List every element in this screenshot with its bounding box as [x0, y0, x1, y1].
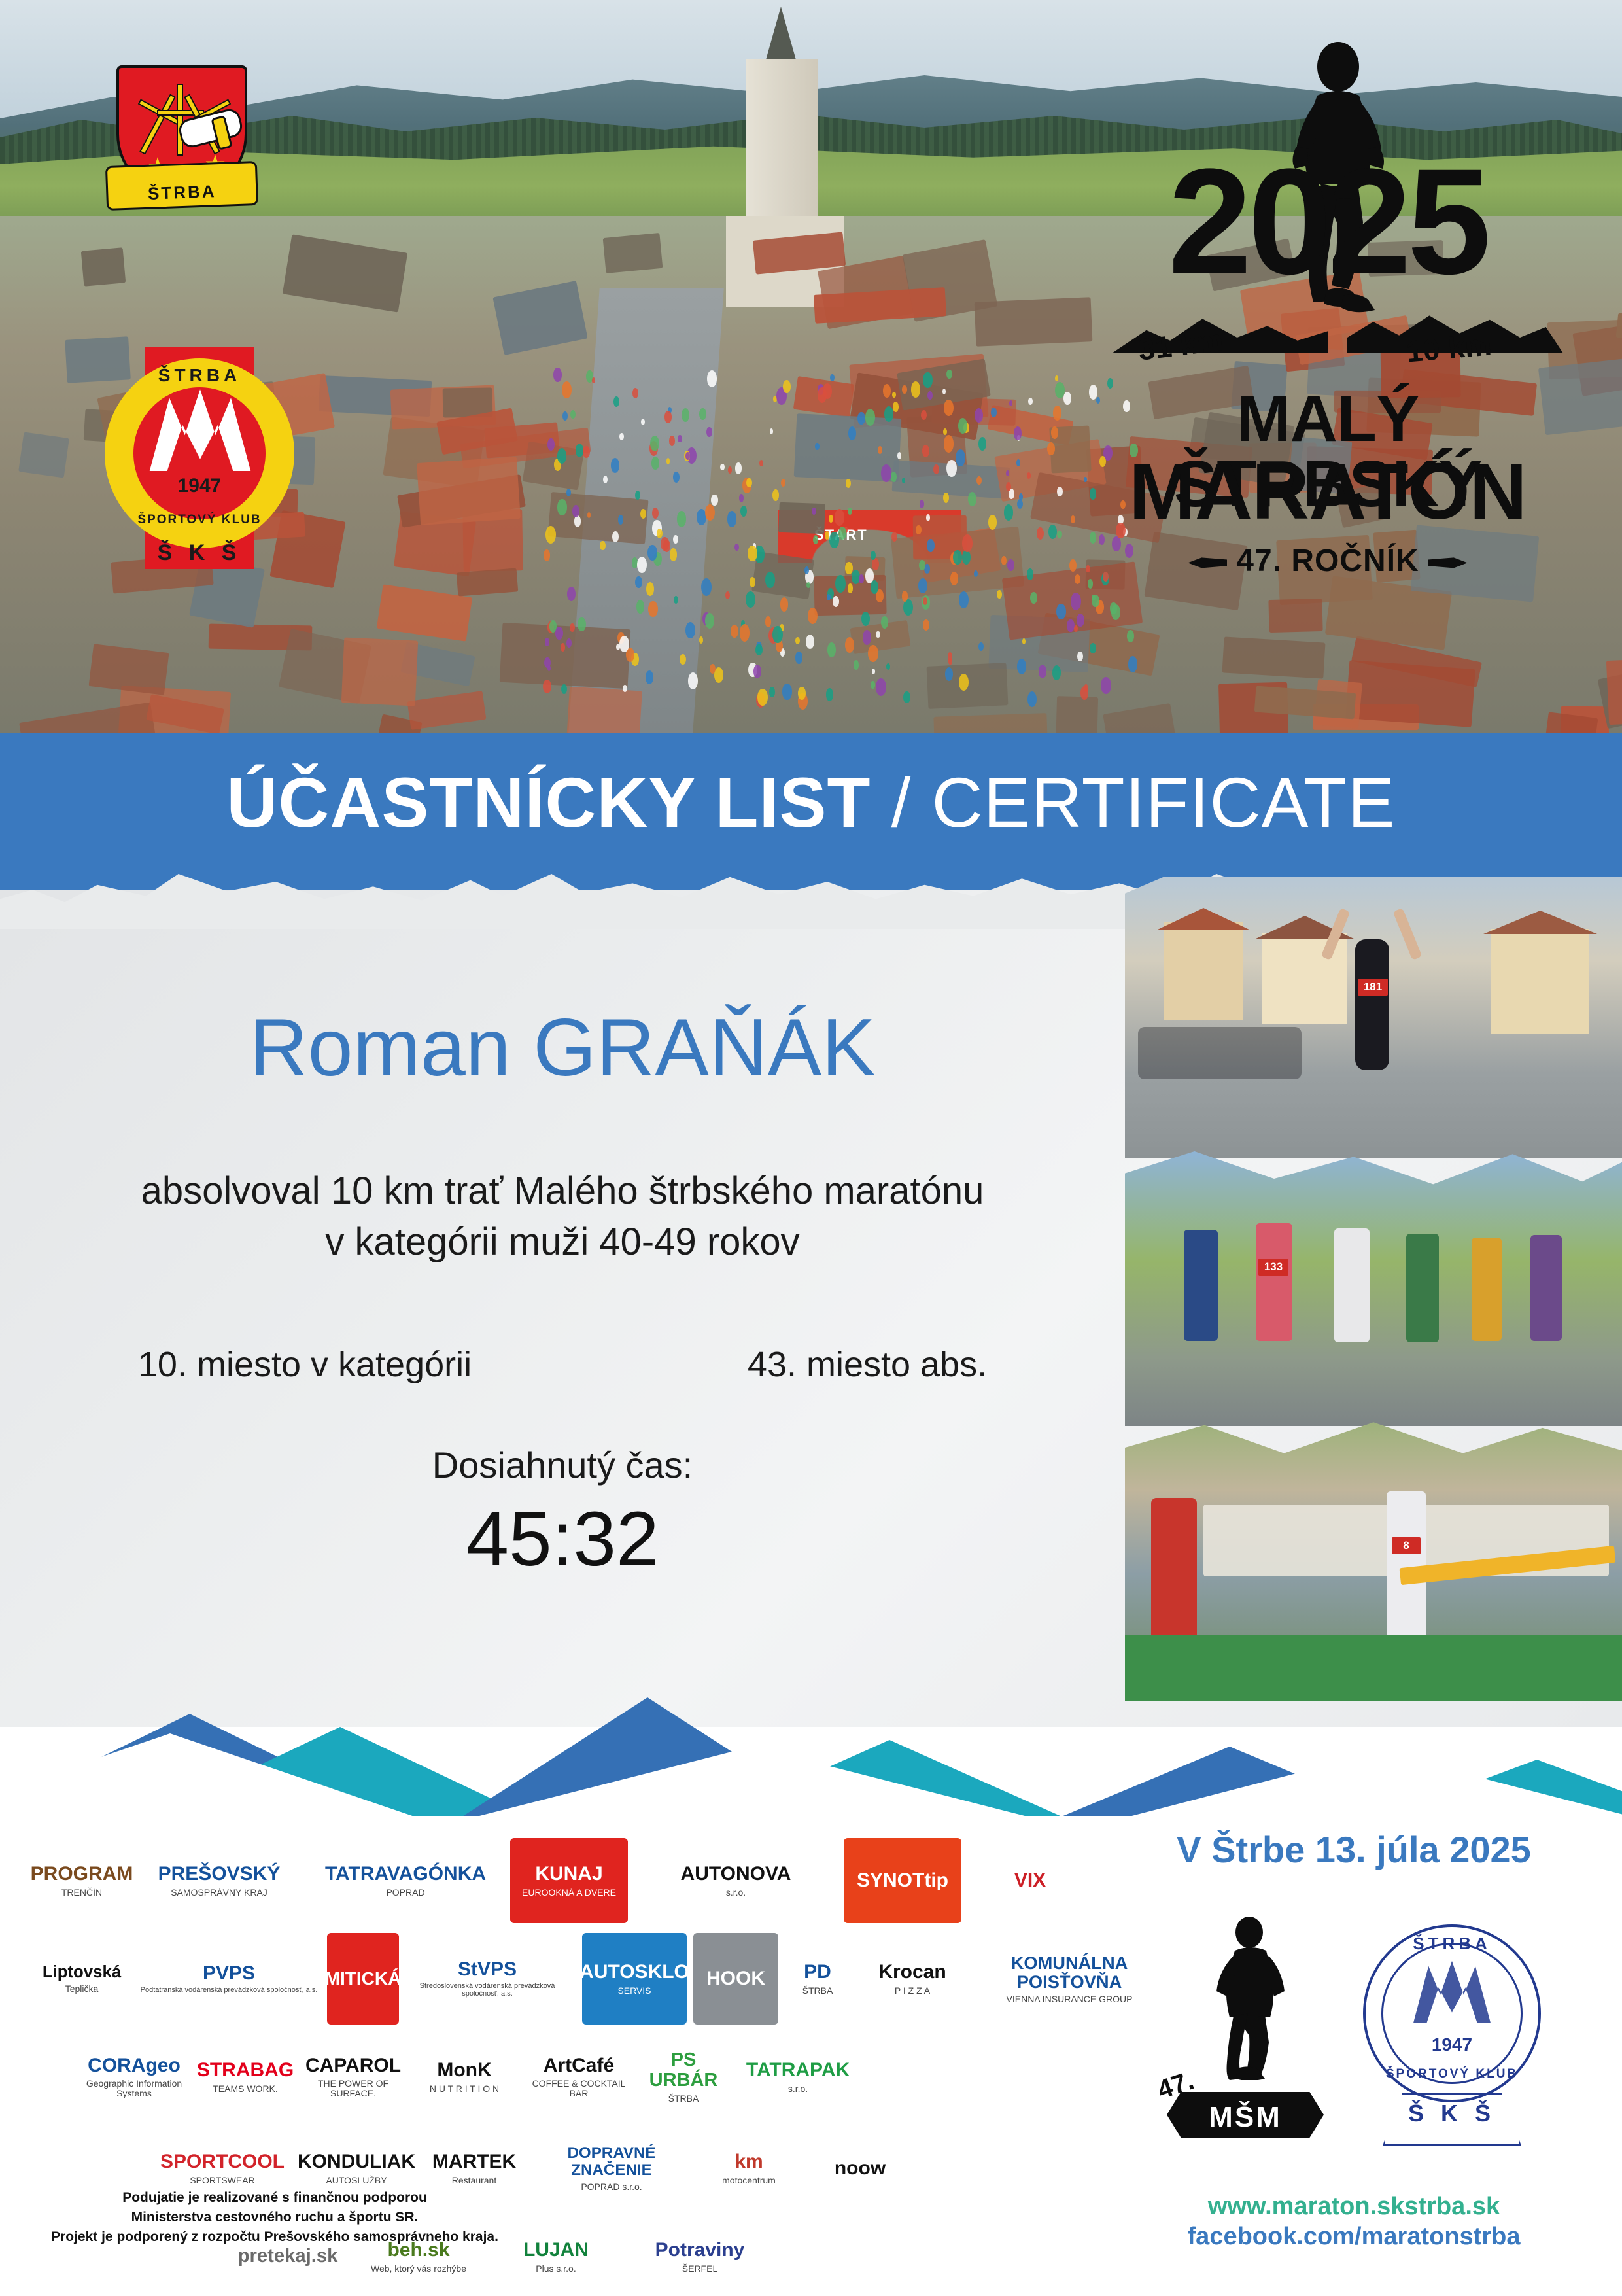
- spectator: [835, 575, 846, 593]
- spectator: [1006, 482, 1011, 491]
- spectator: [944, 435, 954, 453]
- distance-31km: 31 km: [1136, 322, 1225, 367]
- rooftop: [1222, 636, 1326, 678]
- sponsor-tagline: COFFEE & COCKTAIL BAR: [523, 2079, 634, 2098]
- spectator: [1028, 398, 1033, 406]
- sponsor-tagline: P I Z Z A: [895, 1986, 930, 1996]
- spectator: [1030, 592, 1037, 604]
- race-bib: 8: [1392, 1537, 1421, 1554]
- sponsor-name: TATRAPAK: [746, 2060, 850, 2081]
- spectator: [948, 659, 952, 665]
- sponsor-tagline: s.r.o.: [788, 2084, 808, 2094]
- coat-ribbon-label: ŠTRBA: [108, 180, 256, 205]
- sponsor-name: SPORTCOOL: [160, 2151, 285, 2172]
- sponsor-tagline: VIENNA INSURANCE GROUP: [1007, 1994, 1133, 2004]
- sks-stamp: ŠTRBA 1947 ŠPORTOVÝ KLUB Š K Š: [1347, 1904, 1557, 2146]
- spectator: [946, 460, 956, 477]
- arrow-right-icon: [1428, 557, 1468, 568]
- sponsor-tagline: ŠERFEL: [682, 2264, 717, 2274]
- msm-abbr-box: MŠM: [1167, 2092, 1324, 2138]
- website-link[interactable]: www.maraton.skstrba.sk: [1138, 2191, 1570, 2221]
- sponsor-logo: PS URBÁRŠTRBA: [641, 2034, 726, 2119]
- spectator: [592, 377, 595, 383]
- fine-print-line-2: Ministerstva cestovného ruchu a športu S…: [46, 2208, 504, 2227]
- spectator: [795, 652, 802, 663]
- spectator: [561, 684, 567, 694]
- spectator: [632, 388, 638, 398]
- spectator: [918, 578, 927, 594]
- sponsor-name: Potraviny: [655, 2240, 745, 2261]
- spectator: [1017, 659, 1026, 674]
- spectator: [570, 623, 575, 632]
- spectator: [808, 608, 818, 624]
- spectator: [618, 515, 624, 525]
- spectator: [706, 427, 712, 437]
- sks-middle-label: ŠPORTOVÝ KLUB: [105, 513, 294, 527]
- sponsor-name: CAPAROL: [305, 2055, 401, 2076]
- spectator: [920, 500, 925, 508]
- spectator: [922, 445, 929, 457]
- stamp-middle-label: ŠPORTOVÝ KLUB: [1347, 2067, 1557, 2081]
- spectator: [1056, 604, 1066, 620]
- spectator: [838, 527, 846, 540]
- runner: [1256, 1223, 1292, 1341]
- sponsor-tagline: SERVIS: [617, 1986, 651, 1996]
- sponsor-logo: KrocanP I Z Z A: [857, 1933, 968, 2025]
- finish-time-label: Dosiahnutý čas:: [0, 1444, 1125, 1486]
- spectator: [725, 591, 730, 599]
- house: [1164, 922, 1243, 1020]
- spectator: [677, 511, 686, 527]
- sponsor-name: CORAgeo: [88, 2055, 181, 2076]
- cross-icon: [177, 84, 183, 156]
- spectator: [921, 410, 927, 421]
- photo-finisher: 181: [1125, 877, 1622, 1158]
- finisher-runner: [1355, 939, 1389, 1070]
- spectator: [845, 637, 854, 653]
- spectator: [916, 525, 921, 534]
- spectator: [795, 637, 800, 644]
- spectator: [1092, 595, 1099, 607]
- spectator: [868, 645, 878, 662]
- sponsor-logo: TATRAPAKs.r.o.: [733, 2034, 863, 2119]
- spectator: [886, 663, 890, 670]
- title-english: CERTIFICATE: [932, 763, 1396, 842]
- spectator: [848, 508, 852, 515]
- distance-10km: 10 km: [1404, 326, 1493, 369]
- spectator: [804, 566, 809, 574]
- spectator: [637, 557, 647, 573]
- sponsor-logo: ArtCaféCOFFEE & COCKTAIL BAR: [523, 2034, 634, 2119]
- spectator: [1004, 504, 1013, 521]
- spectator: [650, 436, 659, 451]
- runner-silhouette-icon: [1203, 1917, 1288, 2080]
- sponsor-name: PD: [804, 1962, 831, 1983]
- sponsor-name: SYNOTtip: [857, 1870, 948, 1891]
- sponsor-name: StVPS: [458, 1959, 517, 1980]
- spectator: [806, 635, 814, 649]
- spectator: [600, 541, 605, 550]
- spectator: [759, 460, 763, 466]
- sponsor-tagline: TRENČÍN: [61, 1888, 102, 1898]
- placement-row: 10. miesto v kategórii 43. miesto abs.: [0, 1344, 1125, 1385]
- sponsor-name: VIX: [1014, 1870, 1046, 1891]
- sponsor-name: KONDULIAK: [298, 2151, 415, 2172]
- spectator: [782, 684, 791, 699]
- spectator: [943, 493, 950, 503]
- spectator: [557, 499, 566, 515]
- spectator: [652, 508, 659, 519]
- spectator: [1019, 493, 1023, 500]
- spectator: [562, 381, 572, 398]
- spectator: [958, 418, 967, 434]
- page-title: ÚČASTNÍCKY LIST / CERTIFICATE: [0, 761, 1622, 843]
- spectator: [613, 396, 619, 407]
- spectator: [978, 437, 986, 450]
- sponsor-tagline: s.r.o.: [726, 1888, 746, 1898]
- spectator: [547, 665, 551, 671]
- sponsor-logo: PVPSPodtatranská vodárenská prevádzková …: [137, 1933, 320, 2025]
- spectator: [902, 591, 908, 602]
- sponsor-tagline: EUROOKNÁ A DVERE: [522, 1888, 616, 1898]
- spectator: [612, 531, 619, 542]
- sponsor-name: KUNAJ: [535, 1864, 602, 1885]
- achievement-text: absolvoval 10 km trať Malého štrbského m…: [0, 1166, 1125, 1267]
- rooftop: [456, 568, 517, 596]
- rooftop: [602, 233, 662, 273]
- spectator: [669, 436, 675, 446]
- sponsor-logo: LUJANPlus s.r.o.: [497, 2218, 615, 2296]
- spectator: [1051, 426, 1058, 439]
- sponsor-tagline: N U T R I T I O N: [430, 2084, 499, 2094]
- spectator: [635, 576, 642, 588]
- sponsor-logo: LiptovskáTeplička: [39, 1933, 124, 2025]
- sponsor-logo: kmmotocentrum: [693, 2126, 804, 2211]
- spectator: [636, 600, 644, 614]
- spectator: [933, 464, 939, 474]
- spectator: [739, 494, 744, 502]
- spectator: [682, 408, 689, 422]
- photo-finish-line: 8: [1125, 1419, 1622, 1701]
- sponsor-logo: AUTOSKLOSERVIS: [582, 1933, 687, 2025]
- participant-name: Roman GRAŇÁK: [0, 1007, 1125, 1088]
- sponsor-tagline: THE POWER OF SURFACE.: [301, 2079, 405, 2098]
- spectator: [953, 550, 961, 565]
- event-edition: 47. ROČNÍK: [1236, 544, 1419, 578]
- spectator: [728, 466, 732, 474]
- sponsor-tagline: POPRAD: [386, 1888, 424, 1898]
- sponsor-logo: StVPSStredoslovenská vodárenská prevádzk…: [405, 1933, 569, 2025]
- header-photo: ŠTART (function(){ const h=document.quer…: [0, 0, 1622, 733]
- spectator: [685, 622, 695, 638]
- spectator: [1101, 677, 1111, 694]
- spectator: [854, 660, 859, 669]
- sponsor-name: PREŠOVSKÝ: [158, 1864, 281, 1885]
- sponsor-name: PS URBÁR: [641, 2050, 726, 2091]
- sponsor-logo: MITICKÁ: [327, 1933, 399, 2025]
- spectator: [705, 504, 715, 521]
- spectator: [770, 428, 773, 434]
- spectator: [863, 630, 872, 645]
- stamp-bottom-label: Š K Š: [1347, 2100, 1557, 2127]
- rooftop: [499, 622, 630, 688]
- msm-abbr: MŠM: [1167, 2101, 1324, 2134]
- sponsor-name: Liptovská: [43, 1964, 121, 1982]
- sponsor-name: KOMUNÁLNA POISŤOVŇA: [975, 1953, 1164, 1992]
- sponsor-name: AUTONOVA: [681, 1864, 791, 1885]
- fine-print-line-3: Projekt je podporený z rozpočtu Prešovsk…: [46, 2227, 504, 2247]
- sponsor-name: km: [734, 2151, 763, 2172]
- sponsor-logo: DOPRAVNÉ ZNAČENIEPOPRAD s.r.o.: [536, 2126, 687, 2211]
- spectator: [623, 685, 627, 692]
- spectator: [1067, 619, 1075, 633]
- spectator: [944, 400, 954, 416]
- spectator: [1027, 691, 1037, 707]
- sponsor-name: MARTEK: [432, 2151, 516, 2172]
- spectator: [975, 408, 983, 423]
- spectator: [876, 631, 880, 638]
- rooftop: [1055, 696, 1097, 733]
- sponsor-logo: PDŠTRBA: [785, 1933, 850, 2025]
- sponsor-name: PVPS: [203, 1963, 255, 1984]
- rooftop: [1269, 598, 1324, 632]
- runner-arm-right: [1393, 908, 1423, 960]
- mountain-divider: [0, 1661, 1622, 1845]
- spectator: [846, 479, 851, 488]
- sponsor-name: ArtCafé: [544, 2055, 614, 2076]
- footer-logos: 47. MŠM ŠTRBA 1947 ŠPORTOVÝ KLUB Š K Š: [1145, 1890, 1563, 2172]
- spectator: [783, 380, 791, 394]
- fine-print: Podujatie je realizované s finančnou pod…: [46, 2188, 504, 2246]
- spectator: [680, 654, 686, 665]
- spectator: [827, 642, 836, 657]
- spectator: [827, 594, 831, 600]
- spectator: [806, 582, 810, 588]
- runner: [1472, 1238, 1502, 1341]
- spectator: [798, 687, 806, 700]
- sponsor-logo: PROGRAMTRENČÍN: [39, 1838, 124, 1923]
- spectator: [943, 428, 947, 435]
- rooftop: [778, 502, 825, 534]
- spectator: [673, 535, 678, 544]
- sponsor-name: AUTOSKLO: [579, 1962, 689, 1983]
- spectator: [1074, 625, 1078, 632]
- spectator: [663, 540, 670, 551]
- rooftop: [566, 686, 642, 733]
- spectator: [561, 643, 565, 651]
- spectator: [699, 408, 706, 420]
- sponsor-name: STRABAG: [197, 2060, 294, 2081]
- spectator: [699, 636, 703, 643]
- spectator: [753, 665, 762, 678]
- sponsor-tagline: ŠTRBA: [802, 1986, 833, 1996]
- sponsor-logo: CORAgeoGeographic Information Systems: [78, 2034, 190, 2119]
- absolute-placement: 43. miesto abs.: [748, 1344, 987, 1385]
- spectator: [720, 464, 724, 471]
- spectator: [646, 582, 654, 596]
- spectator: [903, 599, 913, 616]
- spectator: [641, 419, 645, 425]
- spectator: [740, 506, 747, 517]
- spectator: [861, 612, 870, 626]
- spectator: [765, 616, 772, 627]
- stamp-year-label: 1947: [1347, 2034, 1557, 2055]
- spectator: [848, 583, 854, 593]
- spectator: [1071, 593, 1081, 610]
- sponsor-tagline: Plus s.r.o.: [536, 2264, 576, 2274]
- sponsor-tagline: Geographic Information Systems: [78, 2079, 190, 2098]
- spectator: [603, 476, 608, 483]
- runner: [1530, 1235, 1562, 1341]
- sponsor-name: pretekaj.sk: [238, 2246, 338, 2267]
- spectator: [1037, 527, 1044, 540]
- spectator: [829, 532, 838, 548]
- spectator: [923, 372, 932, 389]
- spectator: [557, 448, 566, 464]
- spectator: [872, 669, 875, 674]
- rooftop: [341, 637, 418, 706]
- rooftop: [1606, 655, 1622, 724]
- spectator: [619, 636, 629, 652]
- rooftop: [934, 714, 1048, 733]
- sponsor-logo: TATRAVAGÓNKAPOPRAD: [314, 1838, 497, 1923]
- sponsor-logo: KOMUNÁLNA POISŤOVŇAVIENNA INSURANCE GROU…: [975, 1933, 1164, 2025]
- sponsor-logo: noow: [811, 2126, 909, 2211]
- spectator: [830, 374, 835, 381]
- spectator: [1063, 392, 1071, 405]
- runner: [1184, 1230, 1218, 1341]
- spectator: [711, 495, 717, 506]
- sponsor-name: HOOK: [706, 1968, 765, 1989]
- category-placement: 10. miesto v kategórii: [138, 1344, 472, 1385]
- fine-print-line-1: Podujatie je realizované s finančnou pod…: [46, 2188, 504, 2208]
- spectator: [688, 672, 698, 689]
- spectator: [829, 515, 833, 523]
- sponsor-tagline: Teplička: [65, 1984, 99, 1994]
- spectator: [1027, 472, 1031, 478]
- spectator: [1052, 665, 1061, 680]
- spectator: [544, 549, 550, 561]
- race-bib: 181: [1358, 979, 1388, 996]
- sponsor-tagline: SPORTSWEAR: [190, 2176, 254, 2185]
- sponsor-tagline: Stredoslovenská vodárenská prevádzková s…: [405, 1983, 569, 1998]
- event-logo: 2025 31 km 10 km MALÝ ŠTRBSKÝ MARATÓN 47…: [1086, 39, 1570, 589]
- stamp-top-label: ŠTRBA: [1347, 1934, 1557, 1954]
- spectator: [562, 411, 568, 420]
- race-bib: 133: [1258, 1259, 1288, 1276]
- sponsor-logo: KUNAJEUROOKNÁ A DVERE: [510, 1838, 628, 1923]
- spectator: [748, 546, 757, 561]
- sponsor-name: noow: [835, 2158, 886, 2179]
- sponsor-tagline: AUTOSLUŽBY: [326, 2176, 387, 2185]
- spectator: [815, 443, 820, 451]
- sponsor-tagline: motocentrum: [722, 2176, 776, 2185]
- spectator: [746, 478, 751, 487]
- achievement-line-1: absolvoval 10 km trať Malého štrbského m…: [0, 1166, 1125, 1217]
- spectator: [648, 601, 657, 617]
- spectator: [727, 511, 736, 527]
- spectators: [1138, 1027, 1302, 1079]
- spectator: [897, 452, 901, 459]
- photo-collage: 181 133 8: [1125, 877, 1622, 1701]
- spectator: [566, 489, 571, 496]
- spectator: [705, 613, 714, 629]
- spectator: [857, 412, 865, 425]
- roof: [1156, 908, 1251, 930]
- rooftop: [81, 247, 126, 286]
- spectator: [946, 370, 952, 379]
- sks-year-label: 1947: [105, 475, 294, 497]
- sponsor-tagline: Restaurant: [452, 2176, 496, 2185]
- spectator: [1075, 574, 1080, 585]
- folk-costume-spectator: [1151, 1498, 1197, 1648]
- title-slovak: ÚČASTNÍCKY LIST: [226, 763, 871, 842]
- spectator: [678, 435, 682, 442]
- rooftop: [18, 432, 69, 478]
- spectator: [962, 550, 971, 565]
- spectator: [1077, 614, 1084, 627]
- facebook-link[interactable]: facebook.com/maratonstrba: [1138, 2221, 1570, 2252]
- sponsor-tagline: Web, ktorý vás rozhýbe: [371, 2264, 466, 2274]
- sponsor-tagline: TEAMS WORK.: [213, 2084, 278, 2094]
- spectator: [664, 411, 672, 423]
- spectator: [1055, 375, 1059, 381]
- sponsor-logo: AUTONOVAs.r.o.: [641, 1838, 831, 1923]
- finish-time-value: 45:32: [0, 1501, 1125, 1578]
- sponsor-name: LUJAN: [523, 2240, 589, 2261]
- spectator: [772, 489, 779, 500]
- spectator: [962, 534, 973, 552]
- sponsor-logo: VIX: [975, 1838, 1086, 1923]
- spectator: [780, 597, 789, 611]
- spectator: [997, 590, 1002, 599]
- spectator: [772, 626, 782, 643]
- spectator: [833, 596, 839, 607]
- event-year: 2025: [1086, 157, 1570, 287]
- spectator: [1080, 686, 1088, 699]
- spectator: [651, 457, 659, 469]
- spectator: [553, 368, 561, 381]
- sponsor-logo: SYNOTtip: [844, 1838, 961, 1923]
- sponsor-logo: PotravinyŠERFEL: [628, 2218, 772, 2296]
- spectator: [543, 680, 551, 693]
- sponsor-name: PROGRAM: [31, 1864, 133, 1885]
- spectator: [545, 638, 549, 646]
- spectator: [903, 691, 910, 703]
- spectator: [848, 426, 856, 440]
- roof: [1483, 911, 1597, 934]
- spectator: [755, 644, 762, 656]
- sks-top-label: ŠTRBA: [105, 365, 294, 386]
- spectator: [902, 385, 907, 394]
- sks-bottom-label: Š K Š: [105, 540, 294, 566]
- spectator: [876, 678, 886, 696]
- spectator: [865, 409, 876, 426]
- sponsor-logo: MonKN U T R I T I O N: [412, 2034, 517, 2119]
- certificate-content: Roman GRAŇÁK absolvoval 10 km trať Maléh…: [0, 1007, 1125, 1578]
- spectator: [878, 446, 882, 453]
- sponsor-tagline: SAMOSPRÁVNY KRAJ: [171, 1888, 267, 1898]
- spectator: [902, 478, 905, 483]
- spectator: [845, 562, 852, 574]
- sponsor-name: MITICKÁ: [325, 1969, 402, 1989]
- strba-coat-of-arms: ŠTRBA: [116, 65, 247, 222]
- spectator: [570, 410, 576, 419]
- sponsor-logo: PREŠOVSKÝSAMOSPRÁVNY KRAJ: [137, 1838, 301, 1923]
- photo-course-runners: 133: [1125, 1151, 1622, 1426]
- spectator: [891, 532, 897, 542]
- spectator: [881, 464, 891, 482]
